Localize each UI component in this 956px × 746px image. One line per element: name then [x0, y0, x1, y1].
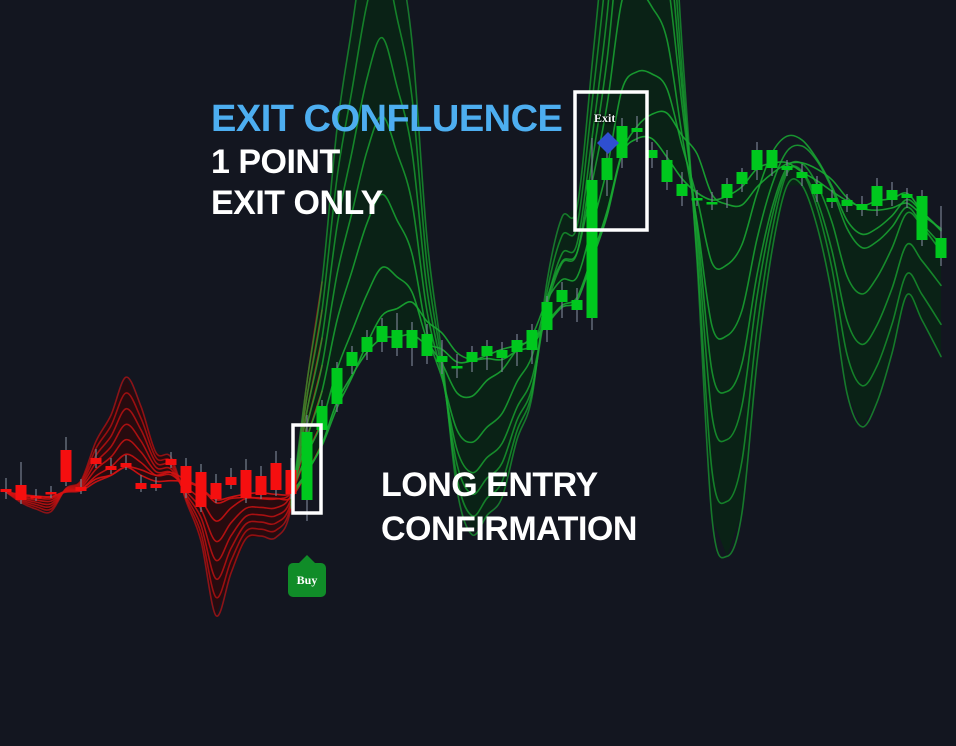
buy-badge-label: Buy — [297, 573, 318, 588]
exit-marker-label: Exit — [594, 111, 615, 126]
entry-callout-line-2: CONFIRMATION — [381, 512, 637, 546]
chart-canvas: EXIT CONFLUENCE 1 POINT EXIT ONLY LONG E… — [0, 0, 956, 746]
headline-callout: EXIT CONFLUENCE 1 POINT EXIT ONLY — [211, 100, 562, 220]
entry-callout: LONG ENTRY CONFIRMATION — [381, 468, 637, 546]
headline-line-1: EXIT CONFLUENCE — [211, 100, 562, 138]
headline-line-2: 1 POINT — [211, 145, 562, 179]
buy-signal-badge[interactable]: Buy — [288, 563, 326, 597]
headline-line-3: EXIT ONLY — [211, 186, 562, 220]
entry-callout-line-1: LONG ENTRY — [381, 468, 637, 502]
